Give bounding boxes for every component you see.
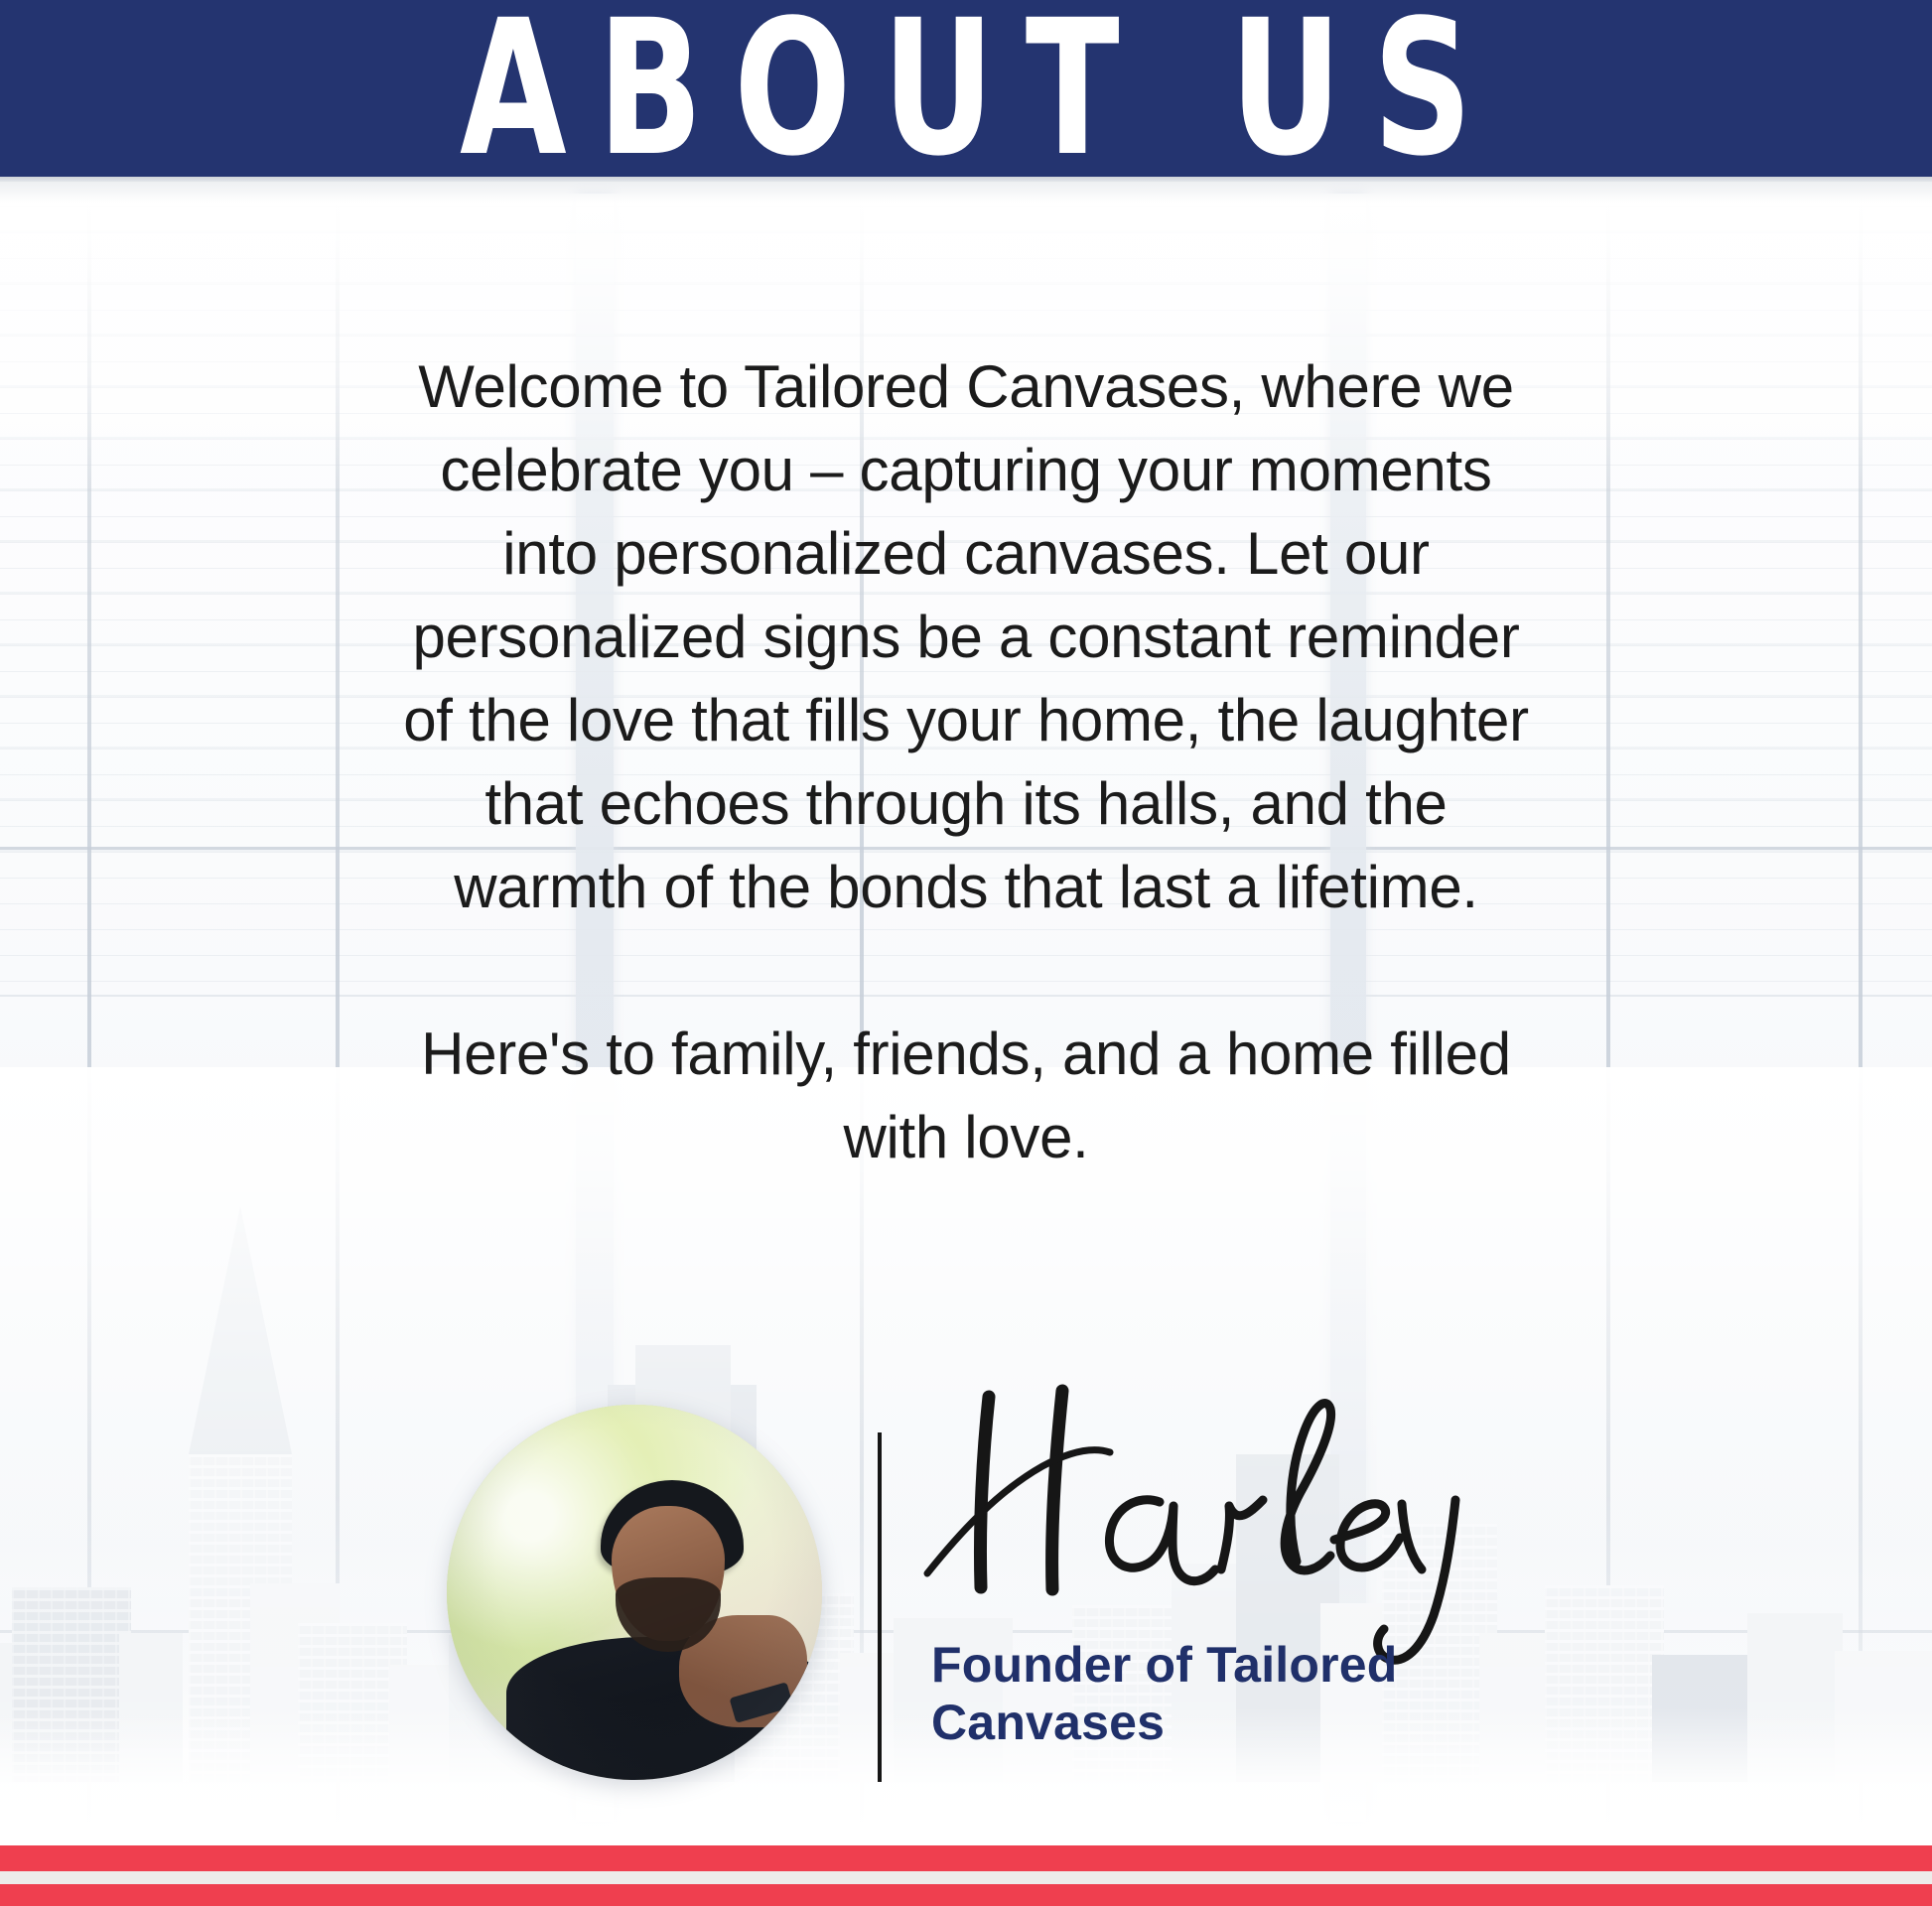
signature-role-line-1: Founder of Tailored — [931, 1636, 1567, 1694]
paragraph-spacer — [390, 929, 1542, 1013]
page-title: ABOUT US — [77, 0, 1855, 188]
closing-paragraph: Here's to family, friends, and a home fi… — [390, 1013, 1542, 1179]
footer-accent-bar-bottom — [0, 1884, 1932, 1906]
intro-paragraph: Welcome to Tailored Canvases, where we c… — [390, 345, 1542, 929]
about-us-copy: Welcome to Tailored Canvases, where we c… — [390, 345, 1542, 1179]
avatar — [447, 1405, 822, 1780]
about-us-poster: ABOUT US Welcome to Tailored Canvases, w… — [0, 0, 1932, 1906]
skyline-pyramid-spire — [189, 1206, 292, 1454]
avatar-vignette — [447, 1405, 822, 1780]
footer-accent-bar-gap — [0, 1871, 1932, 1884]
signature-divider-rule — [878, 1432, 882, 1782]
signature-role: Founder of Tailored Canvases — [931, 1636, 1567, 1751]
signature-role-line-2: Canvases — [931, 1694, 1567, 1751]
footer-accent-bar-top — [0, 1845, 1932, 1871]
signature-name-harley — [894, 1375, 1509, 1673]
header-banner: ABOUT US — [0, 0, 1932, 177]
